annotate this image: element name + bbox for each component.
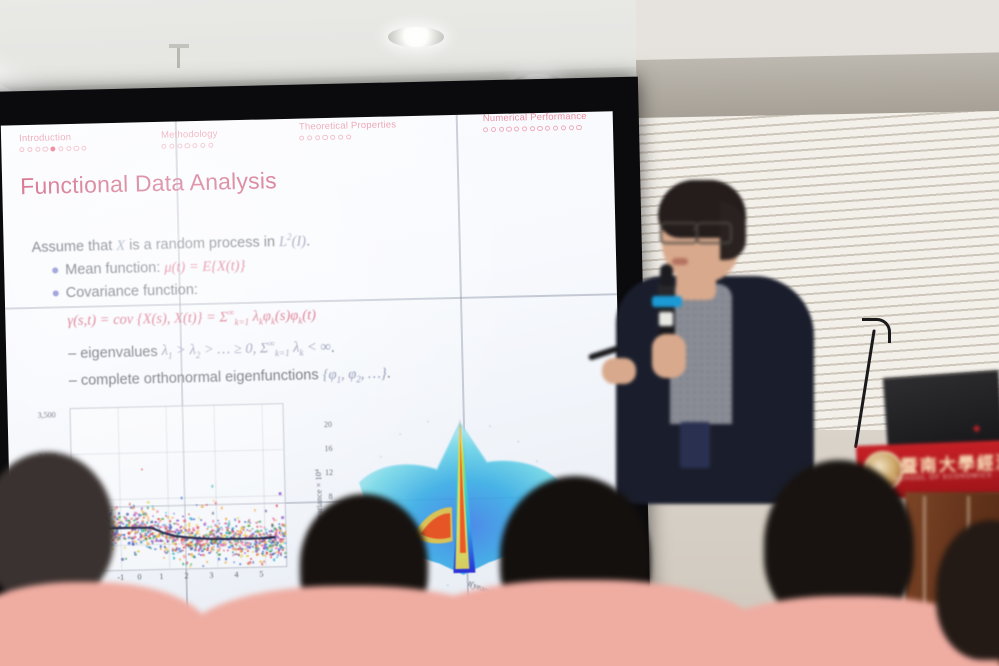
- nav-section-introduction[interactable]: Introduction: [19, 132, 87, 153]
- nav-label: Theoretical Properties: [299, 119, 397, 132]
- nav-dots-numerical: [483, 125, 587, 133]
- microphone-band: [652, 296, 682, 307]
- nav-dots-methodology: [161, 143, 218, 150]
- cov-ytick: 12: [325, 468, 333, 477]
- nav-dot[interactable]: [346, 134, 351, 139]
- downlight-1: [388, 27, 444, 47]
- nav-dot[interactable]: [338, 135, 343, 140]
- nav-dot[interactable]: [322, 135, 327, 140]
- nav-dot[interactable]: [537, 126, 542, 131]
- nav-section-theoretical-properties[interactable]: Theoretical Properties: [299, 119, 397, 140]
- slide-title: Functional Data Analysis: [20, 167, 277, 200]
- bullet-icon: [53, 290, 59, 296]
- laptop[interactable]: ✦: [883, 370, 999, 452]
- glasses-icon-right: [696, 222, 732, 244]
- nav-dot[interactable]: [483, 127, 488, 132]
- nav-dot[interactable]: [545, 126, 550, 131]
- nav-dot[interactable]: [522, 126, 527, 131]
- glasses-bridge: [693, 228, 698, 230]
- cd4-xtick: 0: [137, 572, 141, 581]
- cd4-xtick: 1: [159, 572, 163, 581]
- podium-microphone-head: [862, 318, 891, 343]
- nav-dot[interactable]: [161, 144, 166, 149]
- nav-label: Numerical Performance: [483, 111, 587, 124]
- nav-section-methodology[interactable]: Methodology: [161, 129, 218, 150]
- presenter-mouth: [672, 258, 688, 265]
- nav-dot[interactable]: [576, 125, 581, 130]
- microphone-head: [660, 264, 673, 286]
- cov-ytick: 8: [329, 492, 333, 501]
- cd4-xtick: 5: [259, 570, 263, 579]
- nav-dot[interactable]: [82, 146, 87, 151]
- nav-dot[interactable]: [330, 135, 335, 140]
- cov-ytick: 16: [324, 444, 332, 453]
- nav-dot[interactable]: [66, 146, 71, 151]
- nav-dot[interactable]: [19, 147, 24, 152]
- nav-dot[interactable]: [491, 127, 496, 132]
- presenter-hand-pointer: [602, 358, 636, 384]
- nav-dot[interactable]: [506, 127, 511, 132]
- glasses-icon: [660, 222, 698, 244]
- nav-label: Methodology: [161, 129, 218, 141]
- nav-dot[interactable]: [499, 127, 504, 132]
- nav-dot[interactable]: [307, 135, 312, 140]
- nav-dots-introduction: [19, 146, 87, 153]
- lanyard-badge: [680, 422, 710, 468]
- nav-dot[interactable]: [192, 143, 197, 148]
- nav-dot[interactable]: [561, 125, 566, 130]
- nav-dot[interactable]: [315, 135, 320, 140]
- ceiling-hanger: [177, 46, 180, 68]
- cd4-xtick: 3: [209, 571, 213, 580]
- nav-dot[interactable]: [200, 143, 205, 148]
- presenter-hand-mic: [652, 334, 686, 378]
- nav-label: Introduction: [19, 132, 87, 145]
- presenter: [596, 172, 836, 502]
- laptop-logo-icon: ✦: [970, 421, 983, 436]
- nav-dot-active[interactable]: [50, 146, 55, 151]
- lecture-hall-photo: Introduction Methodology: [0, 0, 999, 666]
- microphone-label: [659, 312, 673, 326]
- nav-dot[interactable]: [530, 126, 535, 131]
- nav-dot[interactable]: [569, 125, 574, 130]
- nav-dot[interactable]: [299, 136, 304, 141]
- cov-ytick: 20: [324, 420, 332, 429]
- nav-dot[interactable]: [35, 147, 40, 152]
- nav-dot[interactable]: [177, 143, 182, 148]
- nav-dot[interactable]: [58, 146, 63, 151]
- nav-dot[interactable]: [43, 147, 48, 152]
- nav-dot[interactable]: [74, 146, 79, 151]
- nav-section-numerical-performance[interactable]: Numerical Performance: [483, 111, 587, 132]
- bullet-icon: [52, 267, 58, 273]
- nav-dot[interactable]: [27, 147, 32, 152]
- nav-dots-theoretical: [299, 133, 396, 140]
- nav-dot[interactable]: [514, 126, 519, 131]
- cd4-xtick: 2: [184, 571, 188, 580]
- slide-nav: Introduction Methodology: [1, 111, 614, 169]
- nav-dot[interactable]: [208, 143, 213, 148]
- cd4-xtick: -1: [117, 573, 124, 582]
- ceiling-hanger-bracket: [169, 44, 189, 48]
- slide-body: Assume that X is a random process in L2(…: [31, 220, 555, 399]
- nav-dot[interactable]: [553, 126, 558, 131]
- cd4-xtick: 4: [234, 570, 238, 579]
- nav-dot[interactable]: [185, 143, 190, 148]
- nav-dot[interactable]: [169, 144, 174, 149]
